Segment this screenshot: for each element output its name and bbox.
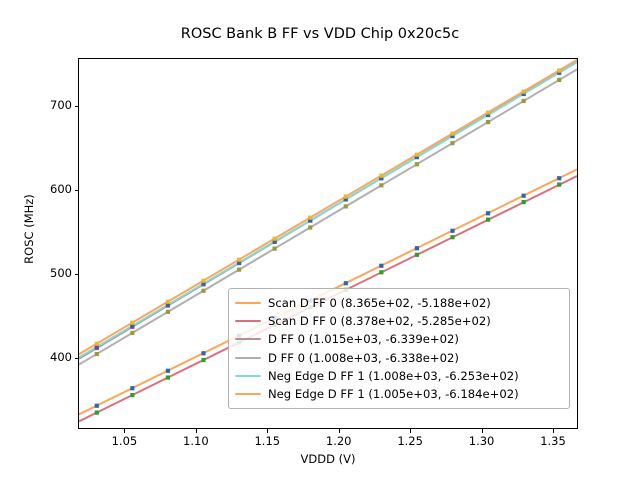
data-point [415,153,419,157]
x-tick-label: 1.35 [523,434,583,448]
data-point [415,162,419,166]
legend-color-swatch [235,315,261,327]
y-tick-label: 600 [12,182,72,196]
data-point [95,411,99,415]
data-point [95,342,99,346]
data-point [308,216,312,220]
data-point [486,218,490,222]
data-point [201,289,205,293]
legend-color-swatch [235,388,261,400]
data-point [450,235,454,239]
data-point [95,352,99,356]
x-tick-mark [196,429,197,433]
data-point [379,270,383,274]
legend-color-swatch [235,352,261,364]
legend-item-label: Scan D FF 0 (8.378e+02, -5.285e+02) [268,314,491,328]
figure: ROSC Bank B FF vs VDD Chip 0x20c5c ROSC … [0,0,640,480]
data-point [344,195,348,199]
data-point [130,393,134,397]
data-point [166,369,170,373]
legend-item-label: D FF 0 (1.008e+03, -6.338e+02) [268,351,459,365]
legend-item[interactable]: Neg Edge D FF 1 (1.008e+03, -6.253e+02) [235,367,562,385]
legend-color-swatch [235,297,261,309]
y-tick-label: 700 [12,98,72,112]
data-point [201,358,205,362]
legend-item-label: D FF 0 (1.015e+03, -6.339e+02) [268,332,459,346]
data-point [166,310,170,314]
data-point [522,99,526,103]
data-point [486,211,490,215]
data-point [522,200,526,204]
y-tick-label: 400 [12,350,72,364]
legend-item-label: Scan D FF 0 (8.365e+02, -5.188e+02) [268,296,491,310]
x-tick-label: 1.05 [94,434,154,448]
data-point [273,237,277,241]
data-point [450,132,454,136]
data-point [237,258,241,262]
data-point [450,229,454,233]
data-point [308,225,312,229]
x-tick-label: 1.30 [452,434,512,448]
data-point [130,386,134,390]
data-point [130,321,134,325]
data-point [486,110,490,114]
legend-item[interactable]: D FF 0 (1.015e+03, -6.339e+02) [235,330,562,348]
legend-item[interactable]: Scan D FF 0 (8.365e+02, -5.188e+02) [235,294,562,312]
data-point [130,331,134,335]
legend-item-label: Neg Edge D FF 1 (1.008e+03, -6.253e+02) [268,369,519,383]
x-tick-label: 1.25 [380,434,440,448]
legend-item[interactable]: Neg Edge D FF 1 (1.005e+03, -6.184e+02) [235,385,562,403]
data-point [379,174,383,178]
data-point [557,68,561,72]
data-point [201,351,205,355]
data-point [166,375,170,379]
legend-color-swatch [235,333,261,345]
x-tick-label: 1.10 [166,434,226,448]
data-point [415,246,419,250]
data-point [201,279,205,283]
legend-item[interactable]: D FF 0 (1.008e+03, -6.338e+02) [235,349,562,367]
data-point [379,264,383,268]
data-point [95,404,99,408]
legend-item-label: Neg Edge D FF 1 (1.005e+03, -6.184e+02) [268,387,519,401]
x-tick-mark [124,429,125,433]
y-tick-label: 500 [12,266,72,280]
x-tick-mark [553,429,554,433]
data-point [450,141,454,145]
legend[interactable]: Scan D FF 0 (8.365e+02, -5.188e+02)Scan … [228,288,570,409]
legend-item[interactable]: Scan D FF 0 (8.378e+02, -5.285e+02) [235,312,562,330]
data-point [415,253,419,257]
data-point [344,281,348,285]
data-point [273,247,277,251]
legend-color-swatch [235,370,261,382]
x-axis-label: VDDD (V) [78,452,578,466]
x-tick-mark [267,429,268,433]
x-tick-mark [339,429,340,433]
x-tick-mark [482,429,483,433]
chart-title: ROSC Bank B FF vs VDD Chip 0x20c5c [0,26,640,42]
data-point [522,194,526,198]
data-point [237,268,241,272]
x-tick-label: 1.20 [309,434,369,448]
data-point [522,89,526,93]
data-point [557,176,561,180]
data-point [486,120,490,124]
data-point [557,78,561,82]
x-tick-label: 1.15 [237,434,297,448]
x-tick-mark [410,429,411,433]
data-point [379,183,383,187]
data-point [166,300,170,304]
data-point [344,204,348,208]
data-point [557,183,561,187]
